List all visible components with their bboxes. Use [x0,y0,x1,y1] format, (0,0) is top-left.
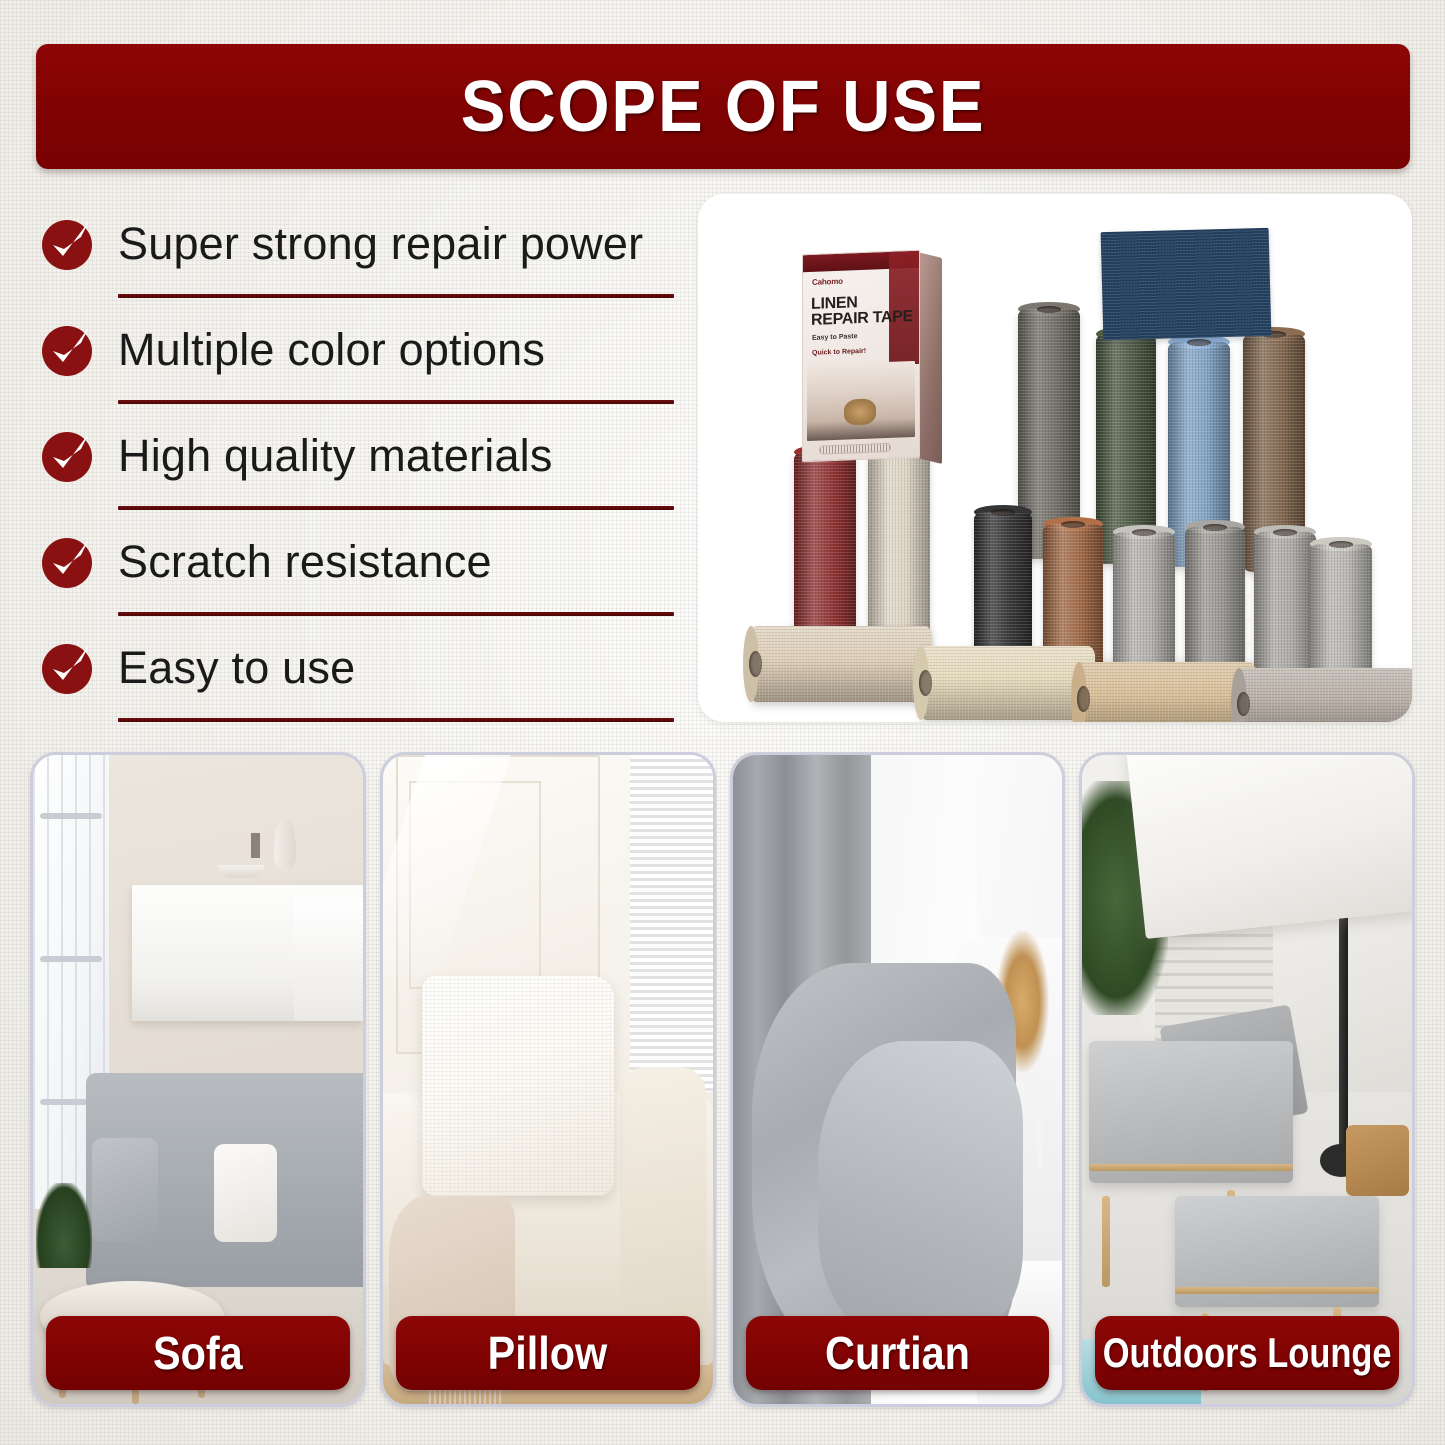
tape-roll-lying [1238,668,1412,722]
page-title: SCOPE OF USE [461,66,986,148]
header-banner: SCOPE OF USE [36,44,1410,169]
scene-curtain [733,755,1063,1404]
product-photo: Cahomo LINEN REPAIR TAPE Easy to Paste Q… [698,194,1412,722]
product-box: Cahomo LINEN REPAIR TAPE Easy to Paste Q… [802,250,920,463]
list-item: Scratch resistance [40,510,680,616]
list-item: Super strong repair power [40,192,680,298]
box-lifestyle-photo [807,361,915,441]
check-circle-icon [40,641,94,695]
feature-label: High quality materials [118,430,553,482]
box-size-label [819,443,891,455]
tape-roll-lying [750,626,932,702]
brand-logo: Cahomo [812,277,843,287]
box-side-panel [920,253,942,464]
tile-label-pillow: Pillow [396,1316,700,1390]
box-title: LINEN REPAIR TAPE [811,293,913,329]
check-circle-icon [40,217,94,271]
feature-label: Easy to use [118,642,355,694]
tape-roll [868,426,930,651]
list-item: Easy to use [40,616,680,722]
check-circle-icon [40,535,94,589]
tape-roll [794,452,856,652]
use-case-tile-pillow[interactable]: Pillow [380,752,716,1407]
scene-sofa [33,755,363,1404]
tape-roll-lying [920,646,1095,720]
use-case-tiles: Sofa Pillow [30,752,1415,1407]
list-item: High quality materials [40,404,680,510]
box-tagline-1: Easy to Paste [812,333,858,342]
use-case-tile-curtain[interactable]: Curtian [730,752,1066,1407]
feature-label: Multiple color options [118,324,545,376]
use-case-tile-sofa[interactable]: Sofa [30,752,366,1407]
tape-roll-lying [1078,662,1256,722]
check-circle-icon [40,429,94,483]
product-image-panel: Cahomo LINEN REPAIR TAPE Easy to Paste Q… [698,194,1412,722]
feature-list: Super strong repair power Multiple color… [40,192,680,722]
tile-label-curtain: Curtian [746,1316,1050,1390]
scope-of-use-infographic: SCOPE OF USE Super strong repair power [0,0,1445,1445]
check-circle-icon [40,323,94,377]
scene-pillow [383,755,713,1404]
list-item: Multiple color options [40,298,680,404]
scene-outdoors-lounge [1082,755,1412,1404]
box-front-face: Cahomo LINEN REPAIR TAPE Easy to Paste Q… [802,250,920,463]
feature-label: Super strong repair power [118,218,643,270]
tape-swatch [1101,228,1272,340]
feature-label: Scratch resistance [118,536,492,588]
tile-label-sofa: Sofa [46,1316,350,1390]
feature-divider [118,718,674,722]
tile-label-outdoors-lounge: Outdoors Lounge [1095,1316,1399,1390]
box-tagline-2: Quick to Repair! [812,348,866,357]
use-case-tile-outdoors-lounge[interactable]: Outdoors Lounge [1079,752,1415,1407]
